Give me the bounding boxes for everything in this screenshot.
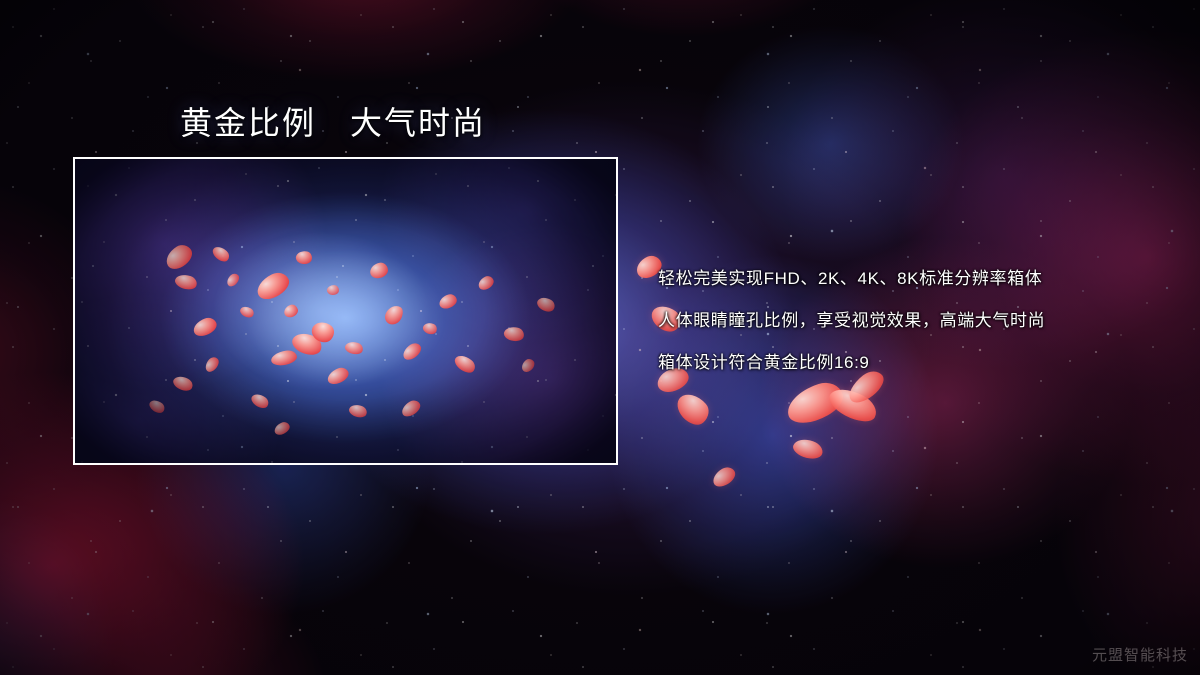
watermark: 元盟智能科技: [1092, 644, 1188, 665]
slide-root: 黄金比例 大气时尚 轻松完美实现FHD、2K、4K、8K标准分辨率箱体 人体眼睛…: [0, 0, 1200, 675]
panel-vignette: [75, 159, 616, 463]
description-line-3: 箱体设计符合黄金比例16:9: [658, 342, 1158, 384]
description-line-2: 人体眼睛瞳孔比例，享受视觉效果，高端大气时尚: [658, 300, 1158, 342]
description-text-block: 轻松完美实现FHD、2K、4K、8K标准分辨率箱体 人体眼睛瞳孔比例，享受视觉效…: [658, 258, 1158, 384]
nebula-photo-panel[interactable]: [73, 157, 618, 465]
page-title: 黄金比例 大气时尚: [180, 98, 486, 144]
panel-image: [75, 159, 616, 463]
description-line-1: 轻松完美实现FHD、2K、4K、8K标准分辨率箱体: [658, 258, 1158, 300]
